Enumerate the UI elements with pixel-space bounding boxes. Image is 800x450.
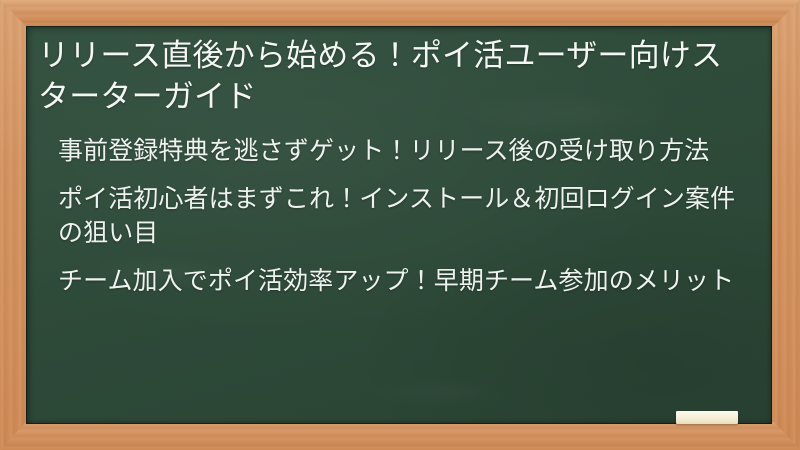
frame-bottom-ledge [0, 422, 800, 450]
chalk-stick-icon [676, 411, 738, 424]
frame-top-rail [0, 0, 800, 26]
chalkboard-frame: リリース直後から始める！ポイ活ユーザー向けスターターガイド 事前登録特典を逃さず… [0, 0, 800, 450]
topic-item-3: チーム加入でポイ活効率アップ！早期チーム参加のメリット [58, 264, 748, 298]
chalkboard-surface: リリース直後から始める！ポイ活ユーザー向けスターターガイド 事前登録特典を逃さず… [26, 26, 772, 424]
board-title: リリース直後から始める！ポイ活ユーザー向けスターターガイド [38, 36, 748, 118]
topic-item-1: 事前登録特典を逃さずゲット！リリース後の受け取り方法 [58, 134, 748, 168]
topic-item-2: ポイ活初心者はまずこれ！インストール＆初回ログイン案件の狙い目 [58, 182, 748, 250]
board-content: リリース直後から始める！ポイ活ユーザー向けスターターガイド 事前登録特典を逃さず… [26, 26, 772, 297]
topic-list: 事前登録特典を逃さずゲット！リリース後の受け取り方法 ポイ活初心者はまずこれ！イ… [38, 134, 748, 297]
